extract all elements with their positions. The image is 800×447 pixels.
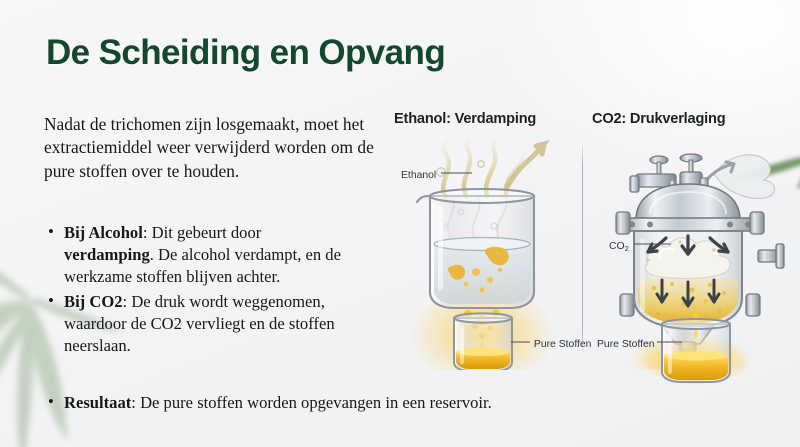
- co2-subscript: 2: [625, 244, 629, 253]
- leader-line-icon: [439, 170, 473, 176]
- liquid-fill: [434, 244, 530, 304]
- beaker-icon: [417, 189, 534, 308]
- bullet-text-pre: Dit gebeurt door: [152, 223, 262, 242]
- callout-label-pure-stoffen-co2: Pure Stoffen: [597, 339, 683, 350]
- side-port-icon: [776, 244, 784, 268]
- leader-line-icon: [657, 339, 683, 345]
- page-title: De Scheiding en Opvang: [46, 33, 445, 73]
- leader-line-icon: [511, 339, 531, 345]
- flange-icon: [622, 218, 758, 231]
- lug-icon: [750, 212, 764, 234]
- callout-label-pure-stoffen-ethanol: Pure Stoffen: [511, 339, 591, 350]
- vapor-arrow-icon: [508, 144, 544, 186]
- slide-canvas: De Scheiding en Opvang Nadat de trichome…: [0, 0, 800, 447]
- vessel-lid-icon: [636, 184, 740, 220]
- beaker-icon: [454, 313, 512, 370]
- bullet-lead-label: Bij CO2: [64, 292, 123, 311]
- bullet-marker: •: [48, 290, 54, 313]
- result-line: • Resultaat: De pure stoffen worden opge…: [44, 392, 664, 414]
- bullet-lead-label: Bij Alcohol: [64, 223, 143, 242]
- beaker-icon: [662, 319, 730, 382]
- side-port-icon: [758, 250, 778, 262]
- callout-label-co2: CO2: [609, 241, 672, 253]
- bullet-emphasis: verdamping: [64, 245, 150, 264]
- bullet-marker: •: [48, 391, 54, 413]
- leader-line-icon: [632, 241, 672, 247]
- result-separator: :: [131, 393, 140, 412]
- bullet-separator: :: [123, 292, 132, 311]
- intro-paragraph: Nadat de trichomen zijn losgemaakt, moet…: [44, 113, 382, 183]
- panel-heading-co2: CO2: Drukverlaging: [592, 111, 725, 127]
- bullet-separator: :: [143, 223, 152, 242]
- list-item: •Bij Alcohol: Dit gebeurt door verdampin…: [44, 222, 344, 288]
- panel-heading-ethanol: Ethanol: Verdamping: [394, 111, 536, 127]
- lug-icon: [616, 212, 630, 234]
- result-lead-label: Resultaat: [64, 393, 131, 412]
- bullet-marker: •: [48, 221, 54, 244]
- lug-icon: [620, 294, 634, 316]
- result-text: De pure stoffen worden opgevangen in een…: [140, 393, 492, 412]
- list-item: •Bij CO2: De druk wordt weggenomen, waar…: [44, 291, 344, 357]
- callout-label-ethanol: Ethanol: [401, 170, 473, 181]
- bullet-list: •Bij Alcohol: Dit gebeurt door verdampin…: [44, 222, 344, 360]
- panel-divider: [582, 140, 583, 356]
